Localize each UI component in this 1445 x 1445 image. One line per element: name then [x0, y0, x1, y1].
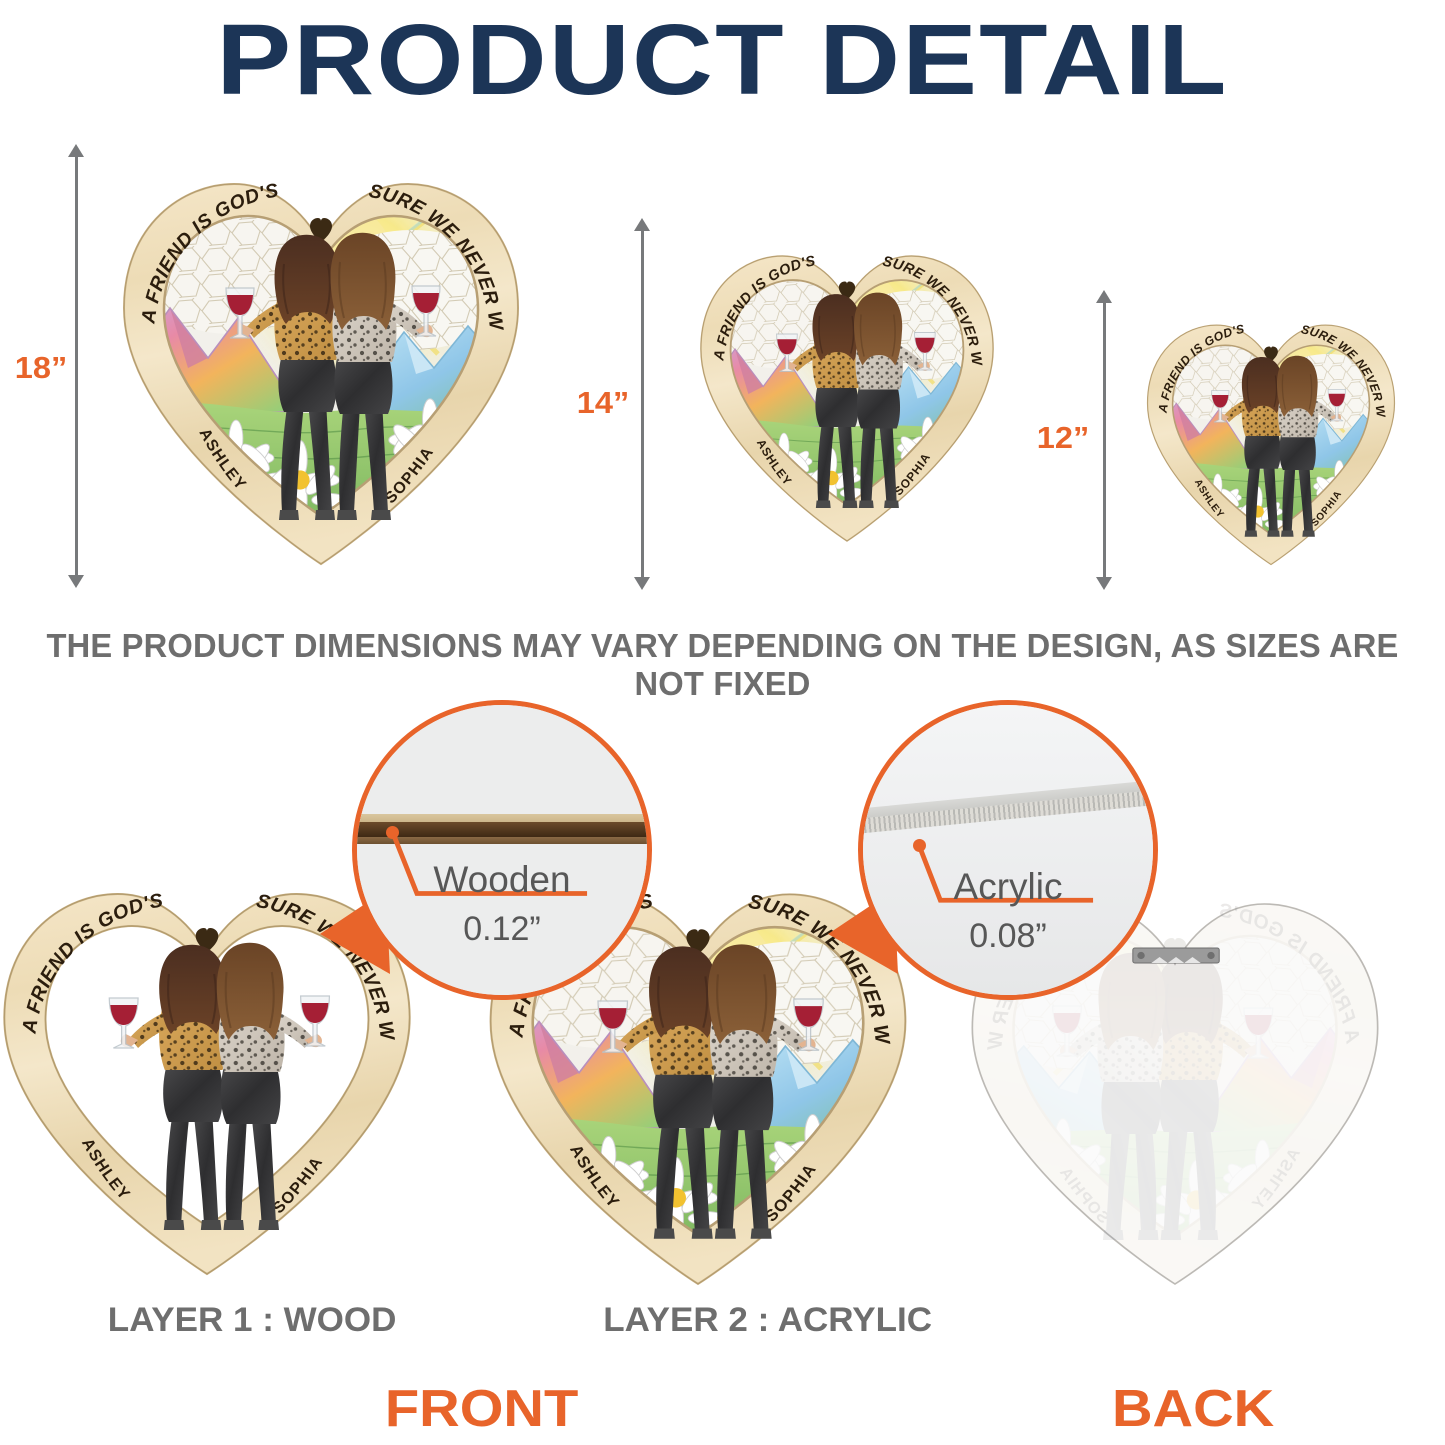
- dimension-arrow-18: [68, 144, 84, 588]
- dimension-label-14: 14”: [577, 385, 629, 421]
- dimension-arrow-14: [634, 218, 650, 590]
- dimension-label-12: 12”: [1037, 420, 1089, 456]
- callout-bubble-wooden: Wooden 0.12”: [352, 700, 652, 1000]
- product-heart-18: [112, 168, 530, 568]
- callout-material-acrylic: Acrylic: [863, 866, 1153, 908]
- dimension-arrow-12: [1096, 290, 1112, 590]
- callout-thickness-acrylic: 0.08”: [863, 917, 1153, 956]
- page-title: PRODUCT DETAIL: [0, 8, 1445, 113]
- callout-material-wooden: Wooden: [357, 859, 647, 901]
- callout-wooden: Wooden 0.12”: [352, 700, 652, 1000]
- front-label: FRONT: [385, 1379, 578, 1439]
- callout-acrylic: Acrylic 0.08”: [858, 700, 1158, 1000]
- callout-anchor-dot-wooden: [386, 826, 399, 839]
- product-heart-14: [692, 244, 1002, 544]
- size-comparison-row: 18” 14” 12”: [0, 130, 1445, 600]
- callout-bubble-acrylic: Acrylic 0.08”: [858, 700, 1158, 1000]
- layer-2-label: LAYER 2 : ACRYLIC: [603, 1301, 932, 1340]
- product-heart-12: [1140, 315, 1402, 567]
- layer-1-label: LAYER 1 : WOOD: [108, 1301, 397, 1340]
- dimension-label-18: 18”: [15, 350, 67, 386]
- dimension-disclaimer: THE PRODUCT DIMENSIONS MAY VARY DEPENDIN…: [7, 627, 1438, 703]
- callout-thickness-wooden: 0.12”: [357, 910, 647, 949]
- back-label: BACK: [1112, 1379, 1274, 1439]
- callout-anchor-dot-acrylic: [913, 839, 926, 852]
